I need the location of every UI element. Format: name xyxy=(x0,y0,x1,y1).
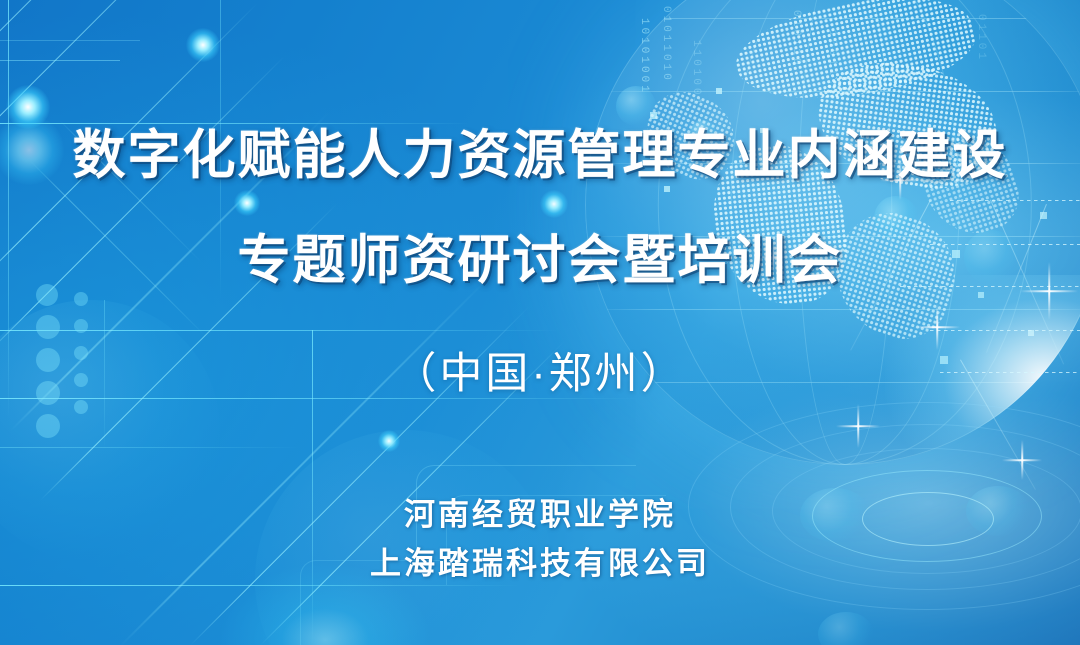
conference-banner: 10101001 01011010 1101001 010110 10011 0… xyxy=(0,0,1080,645)
banner-title-line-2: 专题师资研讨会暨培训会 xyxy=(0,231,1080,291)
banner-title-line-1: 数字化赋能人力资源管理专业内涵建设 xyxy=(0,126,1080,186)
organizer-secondary: 上海踏瑞科技有限公司 xyxy=(0,544,1080,584)
banner-location: （中国·郑州） xyxy=(0,348,1080,400)
organizer-primary: 河南经贸职业学院 xyxy=(0,495,1080,535)
banner-text-block: 数字化赋能人力资源管理专业内涵建设 专题师资研讨会暨培训会 （中国·郑州） 河南… xyxy=(0,0,1080,645)
